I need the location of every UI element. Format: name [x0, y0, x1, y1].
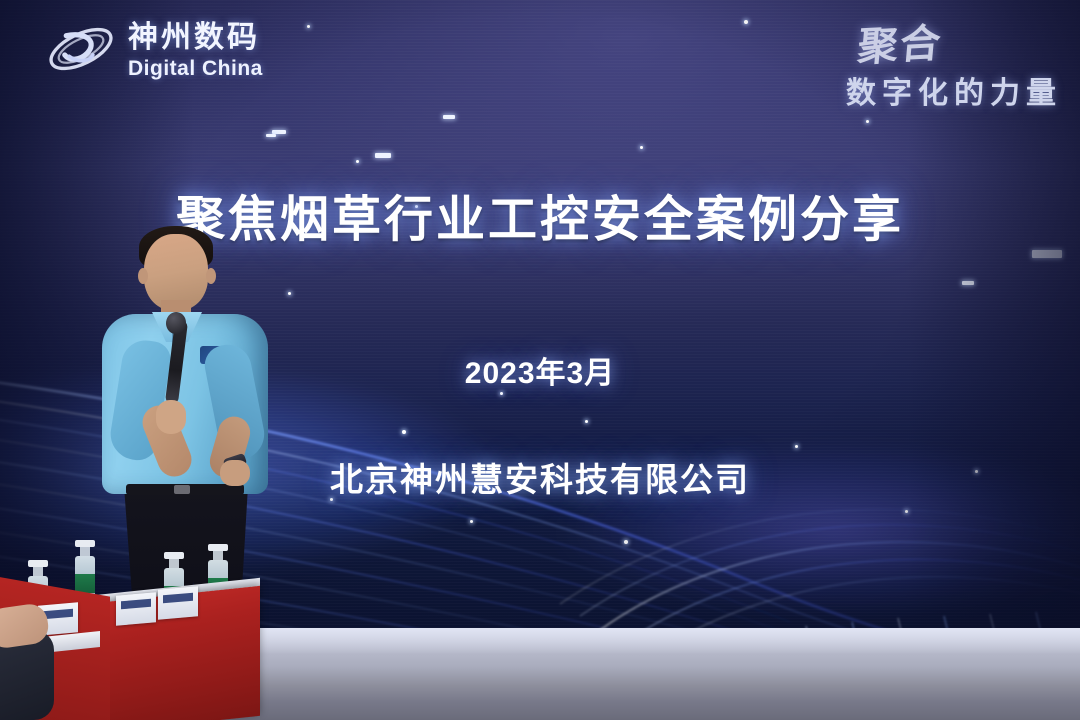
name-card: [116, 592, 156, 625]
speaker-belt-buckle: [174, 485, 190, 494]
speaker-hand-right: [220, 460, 250, 486]
digital-china-logo: 神州数码 Digital China: [44, 18, 263, 80]
campaign-slogan: 聚合 数字化的力量: [732, 16, 1062, 112]
speaker-head: [144, 234, 208, 310]
name-card: [158, 586, 198, 619]
speaker-hand-left: [156, 400, 186, 434]
brand-name-en: Digital China: [128, 58, 263, 79]
speaker-ear-right: [206, 268, 216, 284]
conference-photo: 神州数码 Digital China 聚合 数字化的力量 聚焦烟草行业工控安全案…: [0, 0, 1080, 720]
brand-name-cn: 神州数码: [128, 23, 263, 53]
digital-china-swirl-icon: [44, 18, 118, 80]
campaign-calligraphy: 聚合: [729, 11, 945, 80]
speaker-ear-left: [138, 268, 148, 284]
